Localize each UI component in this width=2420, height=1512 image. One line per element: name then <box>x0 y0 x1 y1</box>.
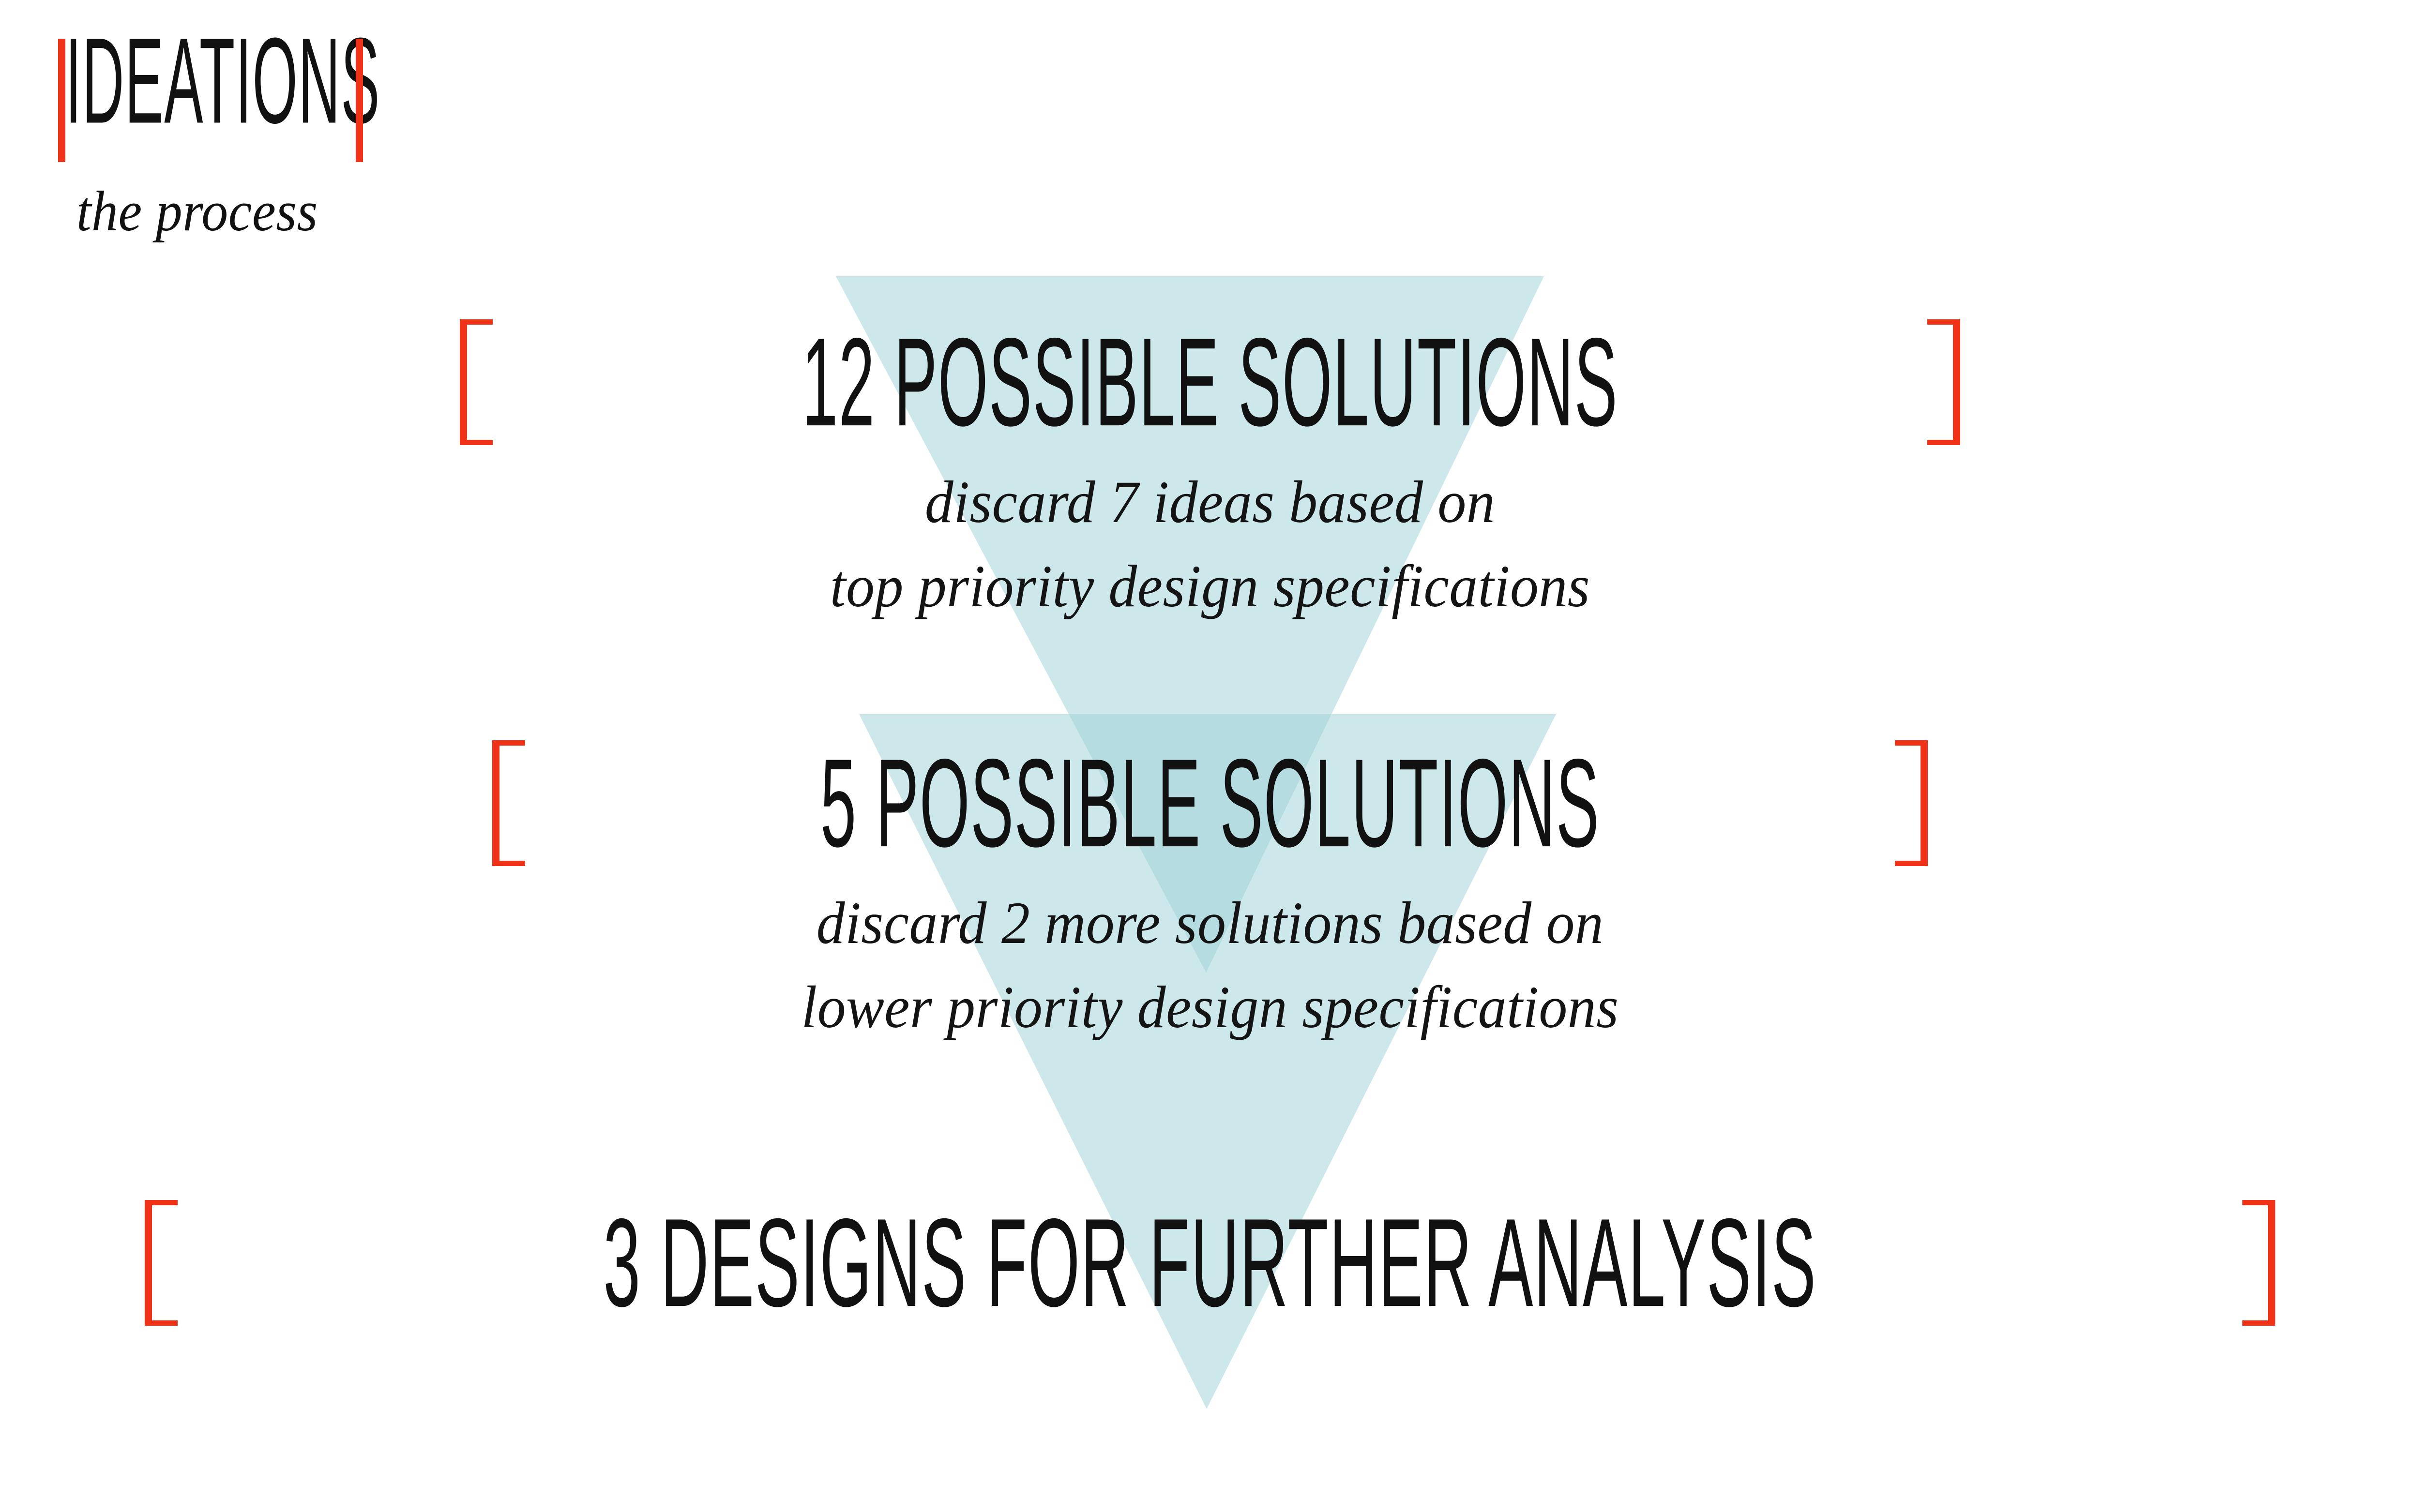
stage-1-bracket-open-icon <box>460 319 493 445</box>
title-bracket-close-icon <box>356 39 363 162</box>
page-title-text: IDEATIONS <box>65 23 240 178</box>
stage-1-heading-text: 12 POSSIBLE SOLUTIONS <box>801 313 1619 451</box>
stage-2-note: discard 2 more solutions based on lower … <box>60 881 2359 1049</box>
stage-2-note-line-2: lower priority design specifications <box>60 965 2359 1049</box>
stage-2-bracket-close-icon <box>1895 740 1928 866</box>
header-block: IDEATIONS the process <box>58 39 639 244</box>
page-subtitle: the process <box>76 179 600 244</box>
title-bracket-open-icon <box>58 39 65 162</box>
funnel-stage-1: 12 POSSIBLE SOLUTIONS discard 7 ideas ba… <box>0 319 2420 628</box>
stage-1-note: discard 7 ideas based on top priority de… <box>60 460 2359 628</box>
funnel-stage-2: 5 POSSIBLE SOLUTIONS discard 2 more solu… <box>0 740 2420 1049</box>
stage-2-note-line-1: discard 2 more solutions based on <box>60 881 2359 965</box>
slide-canvas: IDEATIONS the process 12 POSSIBLE SOLUTI… <box>0 0 2420 1512</box>
page-title: IDEATIONS <box>58 39 639 162</box>
stage-3-heading-text: 3 DESIGNS FOR FURTHER ANALYSIS <box>602 1194 1818 1332</box>
stage-2-heading-text: 5 POSSIBLE SOLUTIONS <box>819 734 1601 872</box>
stage-3-bracket-open-icon <box>145 1200 178 1326</box>
stage-2-bracket-open-icon <box>492 740 525 866</box>
stage-3-heading: 3 DESIGNS FOR FURTHER ANALYSIS <box>145 1200 2275 1326</box>
stage-2-heading: 5 POSSIBLE SOLUTIONS <box>492 740 1928 866</box>
stage-1-note-line-2: top priority design specifications <box>60 544 2359 629</box>
funnel-stage-3: 3 DESIGNS FOR FURTHER ANALYSIS <box>0 1200 2420 1328</box>
stage-3-bracket-close-icon <box>2242 1200 2275 1326</box>
stage-1-bracket-close-icon <box>1927 319 1960 445</box>
stage-1-note-line-1: discard 7 ideas based on <box>60 460 2359 544</box>
stage-1-heading: 12 POSSIBLE SOLUTIONS <box>460 319 1960 445</box>
